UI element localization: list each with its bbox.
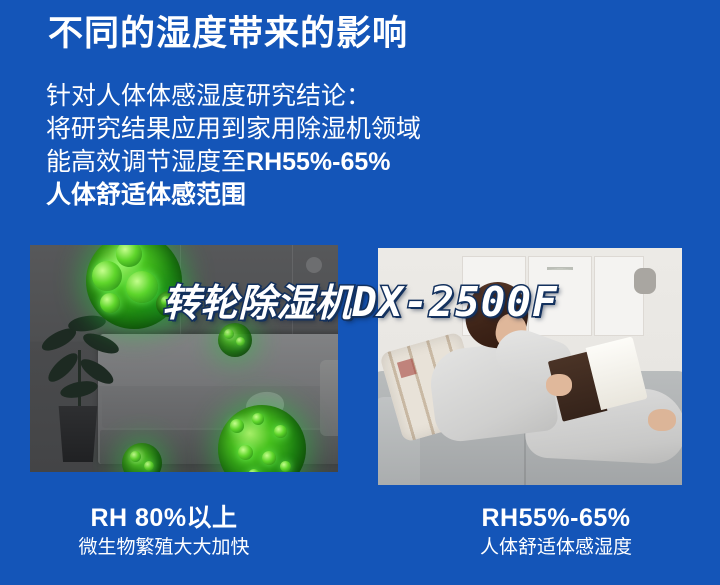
- caption-left-title: RH 80%以上: [0, 502, 328, 534]
- caption-left: RH 80%以上 微生物繁殖大大加快: [0, 502, 364, 562]
- lounge-scene: [378, 248, 682, 485]
- plant-pot-shape: [56, 406, 100, 462]
- intro-line-1: 针对人体体感湿度研究结论：: [46, 80, 421, 113]
- poster-canvas: 不同的湿度带来的影响 针对人体体感湿度研究结论： 将研究结果应用到家用除湿机领域…: [0, 0, 720, 585]
- wall-art-icon: [594, 256, 644, 336]
- sofa-arm-shape: [320, 360, 338, 436]
- photo-panel-right: [378, 248, 682, 485]
- person-foot-shape: [648, 409, 676, 431]
- caption-right-subtitle: 人体舒适体感湿度: [392, 534, 720, 562]
- wall-speaker-icon: [634, 268, 656, 294]
- wall-art-icon: [528, 256, 592, 336]
- microbe-icon: [156, 291, 182, 317]
- wall-sensor-icon: [306, 257, 322, 273]
- cactus-icon: [547, 267, 573, 333]
- person-hand-shape: [546, 374, 572, 396]
- hanging-plant-icon: [242, 245, 286, 311]
- page-title: 不同的湿度带来的影响: [48, 14, 408, 54]
- caption-right-title: RH55%-65%: [392, 502, 720, 534]
- intro-line-3: 能高效调节湿度至RH55%-65%: [46, 146, 421, 179]
- sofa-seat-shape: [102, 386, 338, 428]
- living-room-scene: [30, 245, 338, 472]
- potted-plant-icon: [38, 310, 124, 414]
- intro-humidity-value: RH55%-65%: [246, 148, 391, 176]
- intro-line-3-prefix: 能高效调节湿度至: [46, 148, 246, 176]
- caption-row: RH 80%以上 微生物繁殖大大加快 RH55%-65% 人体舒适体感湿度: [0, 502, 720, 562]
- photo-panel-left: [30, 245, 338, 472]
- caption-left-subtitle: 微生物繁殖大大加快: [0, 534, 328, 562]
- microbe-icon: [218, 323, 252, 357]
- intro-line-4: 人体舒适体感范围: [46, 179, 421, 212]
- intro-paragraph: 针对人体体感湿度研究结论： 将研究结果应用到家用除湿机领域 能高效调节湿度至RH…: [46, 80, 421, 212]
- caption-right: RH55%-65% 人体舒适体感湿度: [364, 502, 720, 562]
- intro-line-2: 将研究结果应用到家用除湿机领域: [46, 113, 421, 146]
